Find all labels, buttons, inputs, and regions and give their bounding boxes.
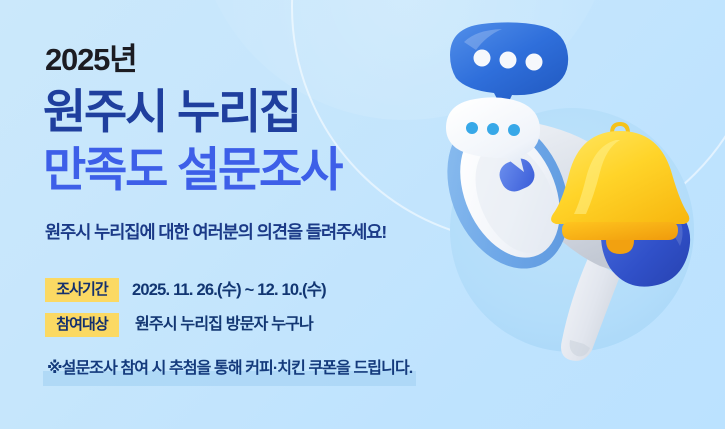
speech-bubble-blue — [450, 22, 568, 112]
note-wrapper: ※설문조사 참여 시 추첨을 통해 커피·치킨 쿠폰을 드립니다. — [43, 360, 416, 378]
banner-content: 2025년 원주시 누리집 만족도 설문조사 원주시 누리집에 대한 여러분의 … — [45, 0, 445, 429]
survey-banner: 2025년 원주시 누리집 만족도 설문조사 원주시 누리집에 대한 여러분의 … — [0, 0, 725, 429]
info-row-participants: 참여대상 원주시 누리집 방문자 누구나 — [45, 313, 313, 337]
participants-value: 원주시 누리집 방문자 누구나 — [135, 317, 313, 333]
banner-subtitle: 원주시 누리집에 대한 여러분의 의견을 들려주세요! — [45, 224, 386, 242]
page-title-line2: 만족도 설문조사 — [43, 146, 341, 193]
info-row-survey-period: 조사기간 2025. 11. 26.(수) ~ 12. 10.(수) — [45, 278, 326, 302]
megaphone-bell-illustration — [420, 0, 725, 429]
page-title-line1: 원주시 누리집 — [43, 88, 300, 135]
badge-participants: 참여대상 — [45, 313, 119, 337]
year-label: 2025년 — [45, 44, 136, 75]
survey-period-value: 2025. 11. 26.(수) ~ 12. 10.(수) — [132, 282, 326, 299]
reward-note: ※설문조사 참여 시 추첨을 통해 커피·치킨 쿠폰을 드립니다. — [43, 358, 416, 379]
bell-base — [562, 222, 678, 240]
badge-survey-period: 조사기간 — [45, 278, 119, 302]
